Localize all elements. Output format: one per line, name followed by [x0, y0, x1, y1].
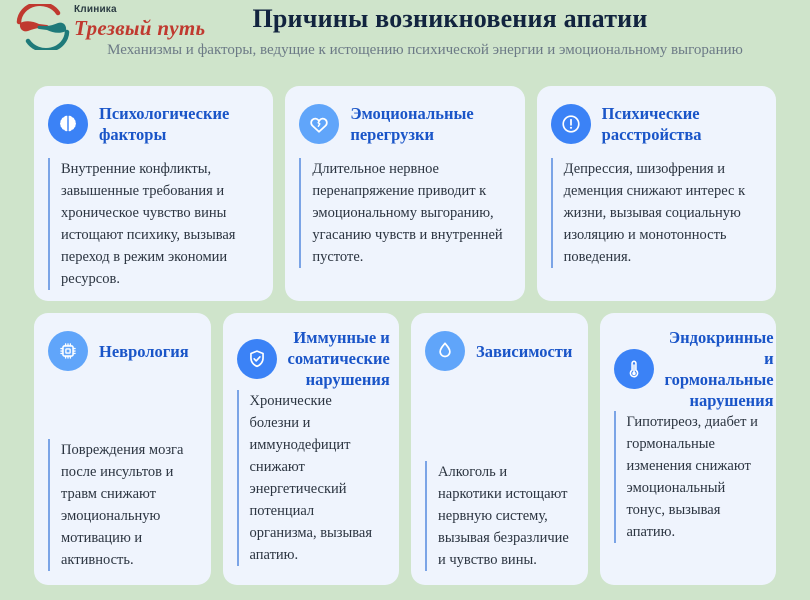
shield-check-icon — [237, 339, 277, 379]
card-row-bottom: Неврология Повреждения мозга после инсул… — [0, 313, 810, 585]
card-title: Неврология — [99, 341, 189, 362]
card-header: Зависимости — [425, 327, 572, 375]
card-body-text: Длительное нервное перенапряжение привод… — [299, 158, 508, 268]
card-title: Психические расстройства — [602, 103, 760, 145]
card-body-text: Хронические болезни и иммунодефицит сниж… — [237, 390, 384, 566]
card-title: Зависимости — [476, 341, 572, 362]
card-header: Эндокринные и гормональные нарушения — [614, 327, 761, 411]
card-endocrine-hormonal-disorders[interactable]: Эндокринные и гормональные нарушения Гип… — [600, 313, 777, 585]
card-body-wrap: Хронические болезни и иммунодефицит сниж… — [237, 390, 384, 571]
card-body-wrap: Повреждения мозга после инсультов и трав… — [48, 375, 195, 571]
card-body-text: Депрессия, шизофрения и деменция снижают… — [551, 158, 760, 268]
card-header: Психические расстройства — [551, 100, 760, 148]
card-addictions[interactable]: Зависимости Алкоголь и наркотики истощаю… — [411, 313, 588, 585]
water-drop-icon — [425, 331, 465, 371]
brain-icon — [48, 104, 88, 144]
card-body-wrap: Депрессия, шизофрения и деменция снижают… — [551, 148, 760, 287]
card-body-wrap: Гипотиреоз, диабет и гормональные измене… — [614, 411, 761, 571]
card-body-text: Гипотиреоз, диабет и гормональные измене… — [614, 411, 761, 543]
card-title: Психологические факторы — [99, 103, 257, 145]
card-header: Психологические факторы — [48, 100, 257, 148]
card-header: Эмоциональные перегрузки — [299, 100, 508, 148]
card-body-wrap: Алкоголь и наркотики истощают нервную си… — [425, 375, 572, 571]
card-mental-disorders[interactable]: Психические расстройства Депрессия, шизо… — [537, 86, 776, 301]
page-title: Причины возникновения апатии — [0, 4, 810, 34]
card-emotional-overload[interactable]: Эмоциональные перегрузки Длительное нерв… — [285, 86, 524, 301]
card-row-top: Психологические факторы Внутренние конфл… — [0, 86, 810, 301]
card-title: Эндокринные и гормональные нарушения — [665, 327, 774, 411]
microchip-icon — [48, 331, 88, 371]
card-neurology[interactable]: Неврология Повреждения мозга после инсул… — [34, 313, 211, 585]
card-body-text: Внутренние конфликты, завышенные требова… — [48, 158, 257, 290]
card-psychological-factors[interactable]: Психологические факторы Внутренние конфл… — [34, 86, 273, 301]
card-header: Иммунные и соматические нарушения — [237, 327, 384, 390]
card-body-wrap: Внутренние конфликты, завышенные требова… — [48, 148, 257, 290]
thermometer-icon — [614, 349, 654, 389]
card-header: Неврология — [48, 327, 195, 375]
page-header: Клиника Трезвый путь Причины возникновен… — [0, 0, 810, 68]
broken-heart-icon — [299, 104, 339, 144]
card-body-text: Алкоголь и наркотики истощают нервную си… — [425, 461, 572, 571]
infographic-page: Клиника Трезвый путь Причины возникновен… — [0, 0, 810, 600]
exclamation-circle-icon — [551, 104, 591, 144]
card-title: Иммунные и соматические нарушения — [288, 327, 390, 390]
card-body-text: Повреждения мозга после инсультов и трав… — [48, 439, 195, 571]
card-immune-somatic-disorders[interactable]: Иммунные и соматические нарушения Хронич… — [223, 313, 400, 585]
card-body-wrap: Длительное нервное перенапряжение привод… — [299, 148, 508, 287]
page-subtitle: Механизмы и факторы, ведущие к истощению… — [0, 42, 810, 59]
card-title: Эмоциональные перегрузки — [350, 103, 508, 145]
